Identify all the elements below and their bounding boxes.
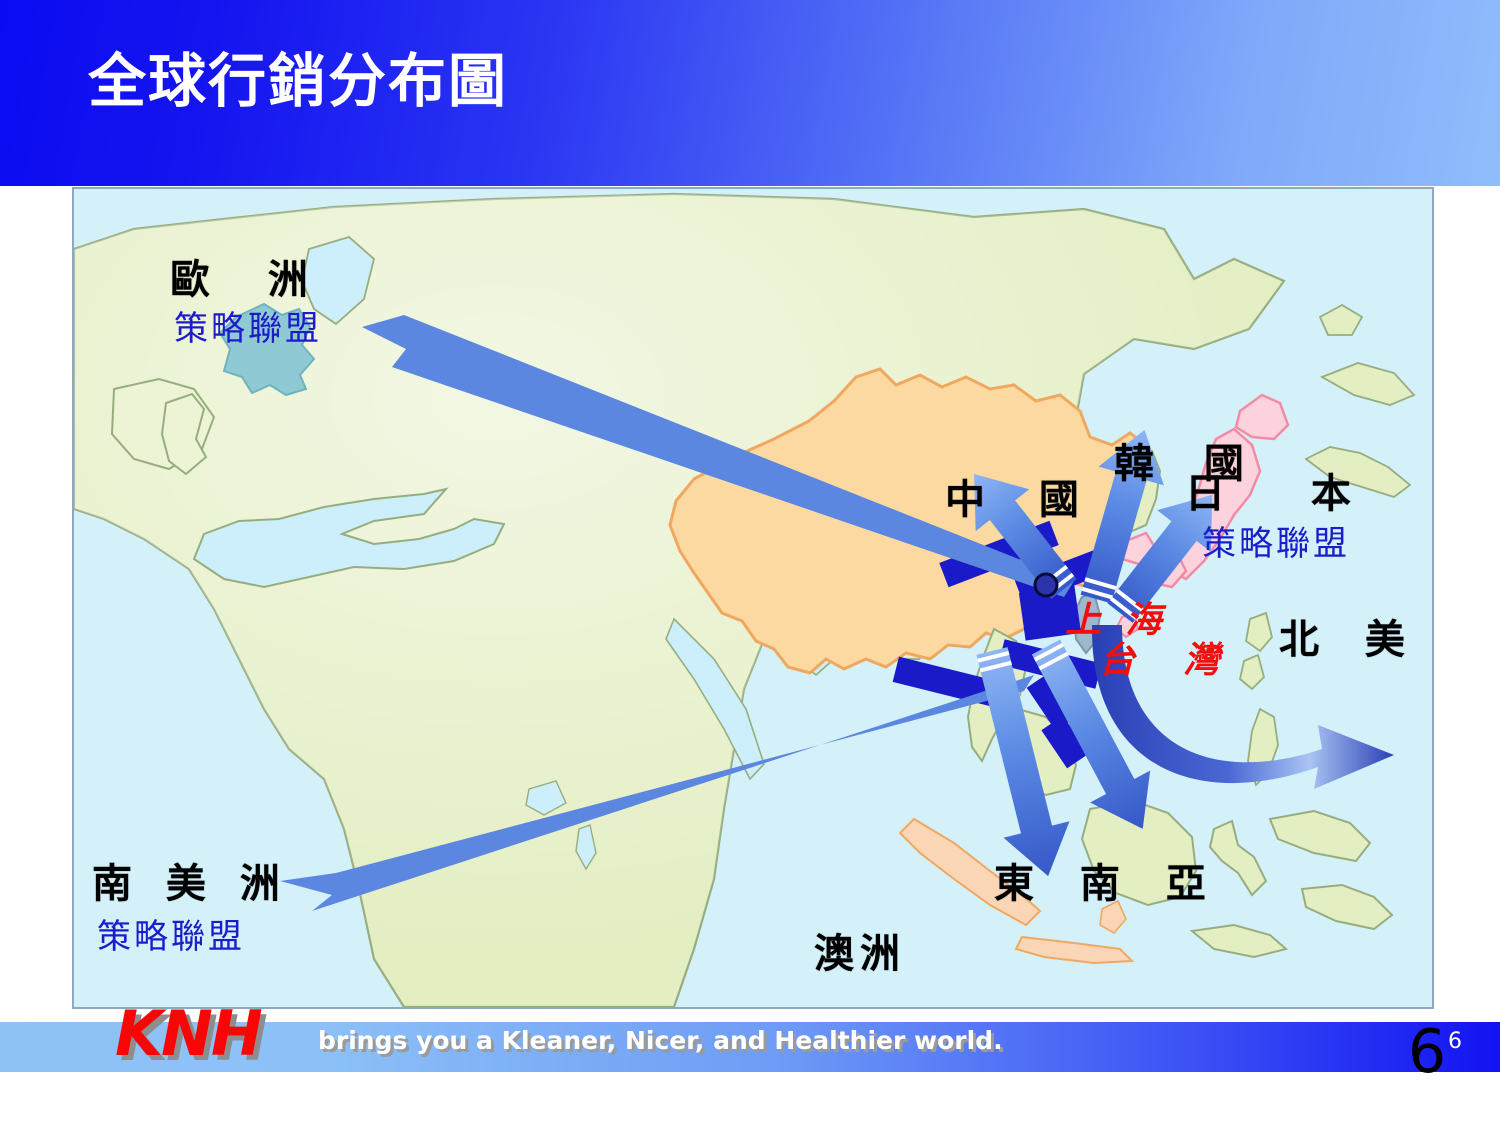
map-label-south-america-alliance: 策略聯盟 [97,920,245,954]
footer-tagline: brings you a Kleaner, Nicer, and Healthi… [318,1028,1003,1053]
map-label-southeast-asia: 東 南 亞 [994,864,1222,904]
map-label-china: 中 國 [945,480,1099,520]
shanghai-marker [1035,574,1057,596]
map-label-taiwan: 台 灣 [1099,642,1238,678]
map-label-europe-alliance: 策略聯盟 [174,312,322,346]
knh-logo: KNH [115,1003,261,1065]
map-label-europe: 歐 洲 [170,260,330,300]
map-label-japan: 日 本 [1185,474,1387,514]
map-label-japan-alliance: 策略聯盟 [1202,527,1350,561]
map-label-north-america: 北 美 洲 [1279,620,1434,660]
slide-header: 全球行銷分布圖 [0,0,1500,186]
page-number-small: 6 [1448,1031,1462,1053]
page-number: 6 [1408,1022,1446,1082]
map-label-south-america: 南 美 洲 [92,864,290,904]
world-map-panel: 歐 洲 策略聯盟 中 國 韓 國 日 本 策略聯盟 上 海 台 灣 北 美 洲 … [72,187,1434,1009]
map-label-shanghai: 上 海 [1065,602,1168,638]
page-title: 全球行銷分布圖 [88,52,508,110]
map-label-australia: 澳洲 [814,934,906,974]
